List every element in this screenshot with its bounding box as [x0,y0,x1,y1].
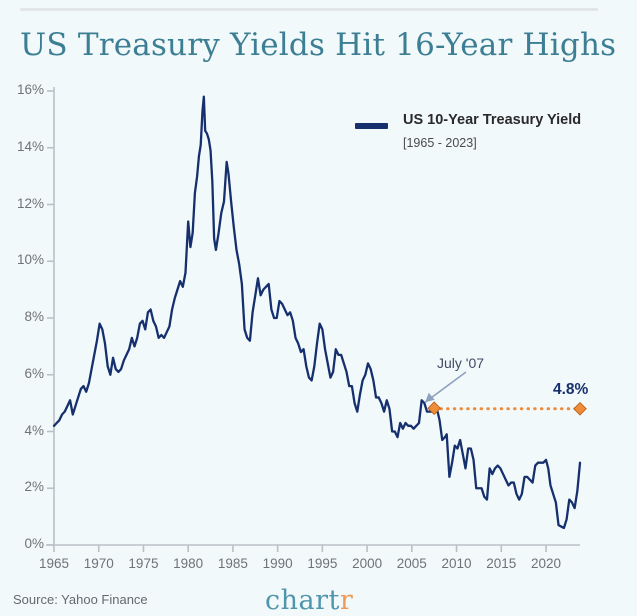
y-tick-label: 16% [0,82,44,97]
x-tick-label: 2020 [520,556,572,571]
y-tick-label: 8% [0,309,44,324]
current-value-label: 4.8% [553,381,588,399]
chart-page: US Treasury Yields Hit 16-Year Highs US … [0,0,637,616]
y-tick-label: 6% [0,366,44,381]
series-lines [54,97,580,528]
y-tick-label: 14% [0,139,44,154]
logo-text-accent: r [340,585,353,616]
y-tick-label: 4% [0,423,44,438]
callout-july-07-label: July '07 [437,355,484,371]
plot-area: 0%2%4%6%8%10%12%14%16% 19651970197519801… [0,0,637,616]
y-tick-label: 0% [0,536,44,551]
y-tick-label: 12% [0,196,44,211]
y-tick-label: 2% [0,479,44,494]
chart-svg [0,0,637,616]
y-tick-label: 10% [0,252,44,267]
source-attribution: Source: Yahoo Finance [13,592,148,607]
logo-text-primary: chart [265,585,340,616]
chartr-logo: chartr [265,585,353,616]
axes [46,87,580,552]
